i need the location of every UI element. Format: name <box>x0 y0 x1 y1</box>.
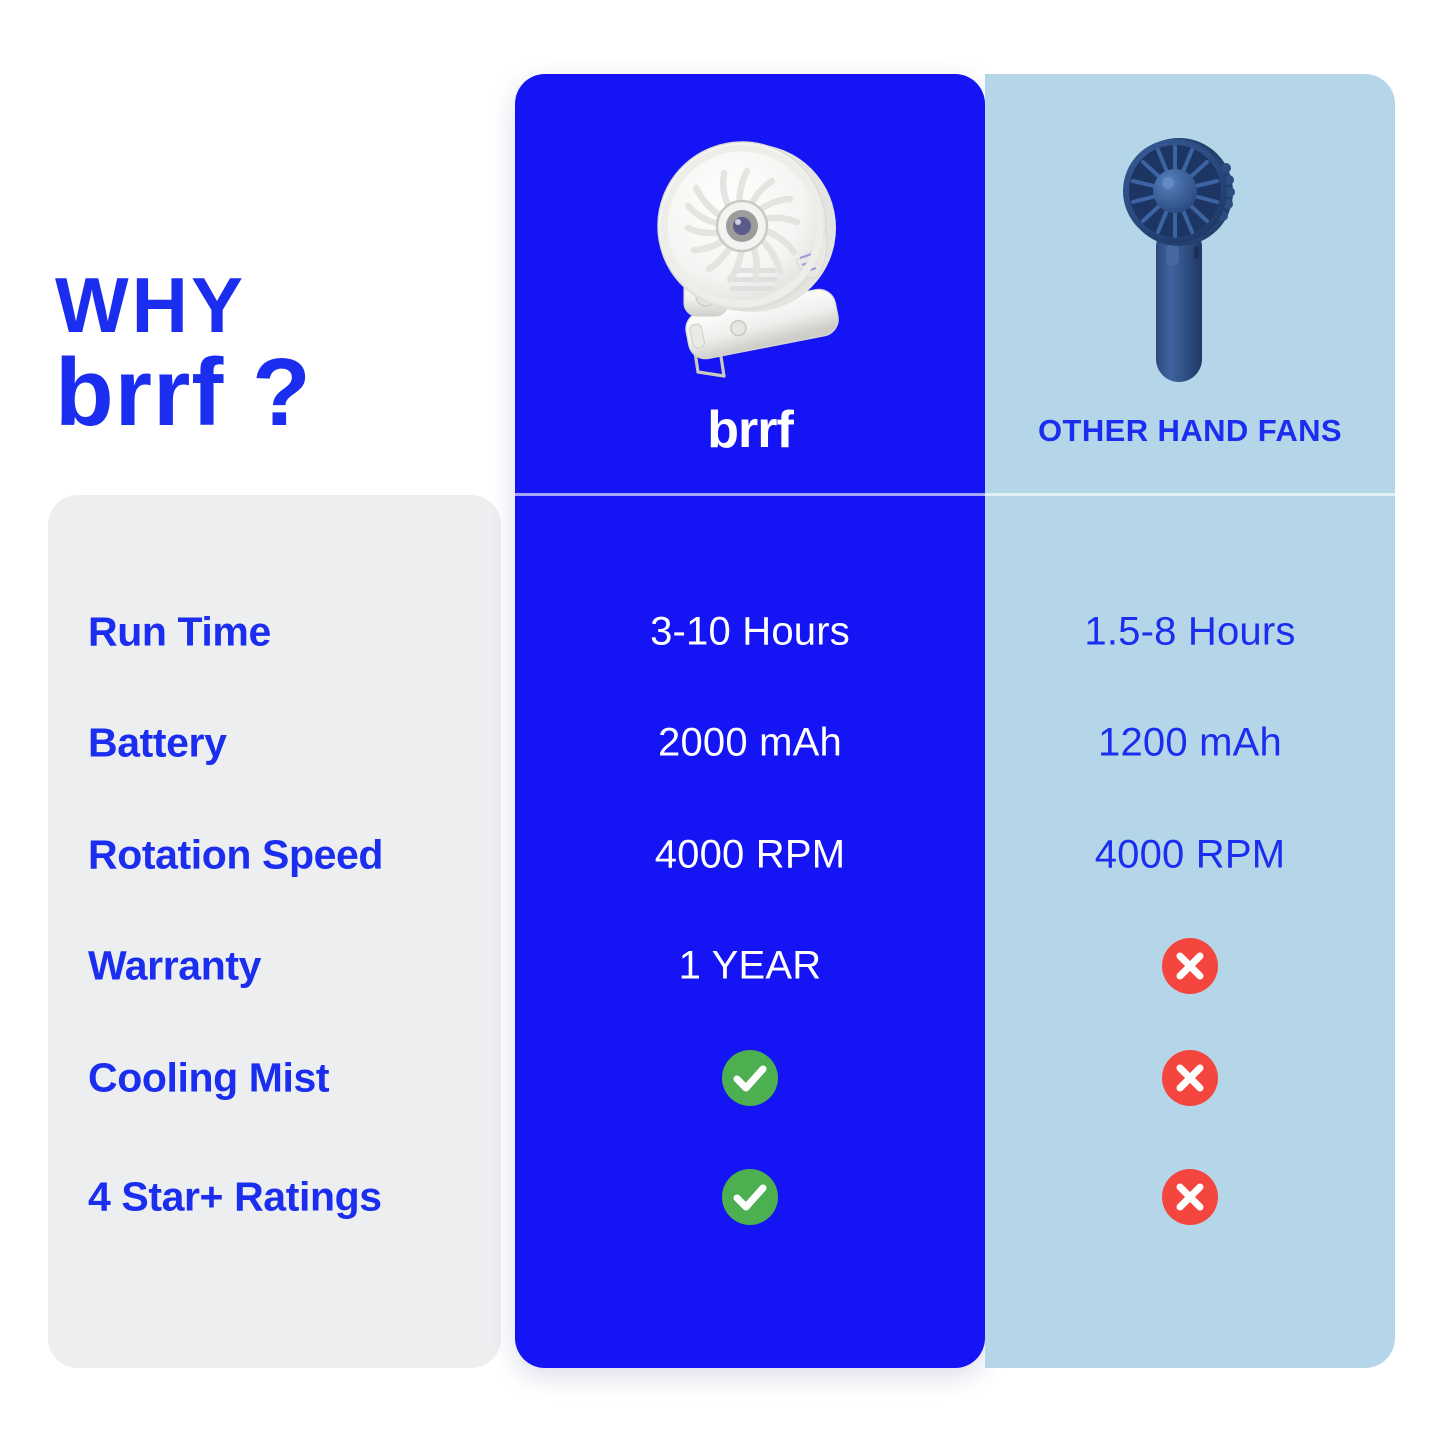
cell-other-cooling-mist: No <box>985 1050 1395 1106</box>
row-label-cooling-mist: Cooling Mist <box>88 1055 498 1102</box>
row-label-warranty: Warranty <box>88 943 498 990</box>
cell-other-4-star-ratings: No <box>985 1169 1395 1225</box>
row-label-rotation-speed: Rotation Speed <box>88 832 498 879</box>
check-circle-icon <box>722 1169 778 1225</box>
header-divider <box>515 493 1395 496</box>
cell-brrf-battery: 2000 mAh <box>515 721 985 766</box>
page-title: WHY brrf ? <box>55 268 505 439</box>
other-fan-image <box>1100 132 1270 392</box>
title-line-why: WHY <box>55 268 505 343</box>
check-circle-icon <box>722 1050 778 1106</box>
cross-circle-icon <box>1162 1050 1218 1106</box>
row-label-run-time: Run Time <box>88 609 498 656</box>
table-row: Battery 2000 mAh 1200 mAh <box>0 687 1445 799</box>
cell-other-battery: 1200 mAh <box>985 721 1395 766</box>
table-row: 4 Star+ Ratings Yes No <box>0 1141 1445 1253</box>
cell-brrf-4-star-ratings: Yes <box>515 1169 985 1225</box>
cell-other-warranty: No <box>985 938 1395 994</box>
brrf-logo: brrf <box>515 404 985 456</box>
table-row: Run Time 3-10 Hours 1.5-8 Hours <box>0 576 1445 688</box>
title-line-brand: brrf ? <box>55 347 505 439</box>
cross-circle-icon <box>1162 1169 1218 1225</box>
cell-brrf-run-time: 3-10 Hours <box>515 610 985 655</box>
cell-other-run-time: 1.5-8 Hours <box>985 610 1395 655</box>
cross-circle-icon <box>1162 938 1218 994</box>
comparison-infographic: WHY brrf ? <box>0 0 1445 1445</box>
cell-other-rotation-speed: 4000 RPM <box>985 833 1395 878</box>
table-row: Cooling Mist Yes No <box>0 1022 1445 1134</box>
other-fans-header: OTHER HAND FANS <box>985 414 1395 448</box>
cell-brrf-cooling-mist: Yes <box>515 1050 985 1106</box>
cell-brrf-warranty: 1 YEAR <box>515 944 985 989</box>
table-row: Rotation Speed 4000 RPM 4000 RPM <box>0 799 1445 911</box>
brrf-fan-image <box>620 118 900 393</box>
cell-brrf-rotation-speed: 4000 RPM <box>515 833 985 878</box>
row-label-battery: Battery <box>88 720 498 767</box>
table-row: Warranty 1 YEAR No <box>0 910 1445 1022</box>
row-label-4-star-ratings: 4 Star+ Ratings <box>88 1174 498 1221</box>
